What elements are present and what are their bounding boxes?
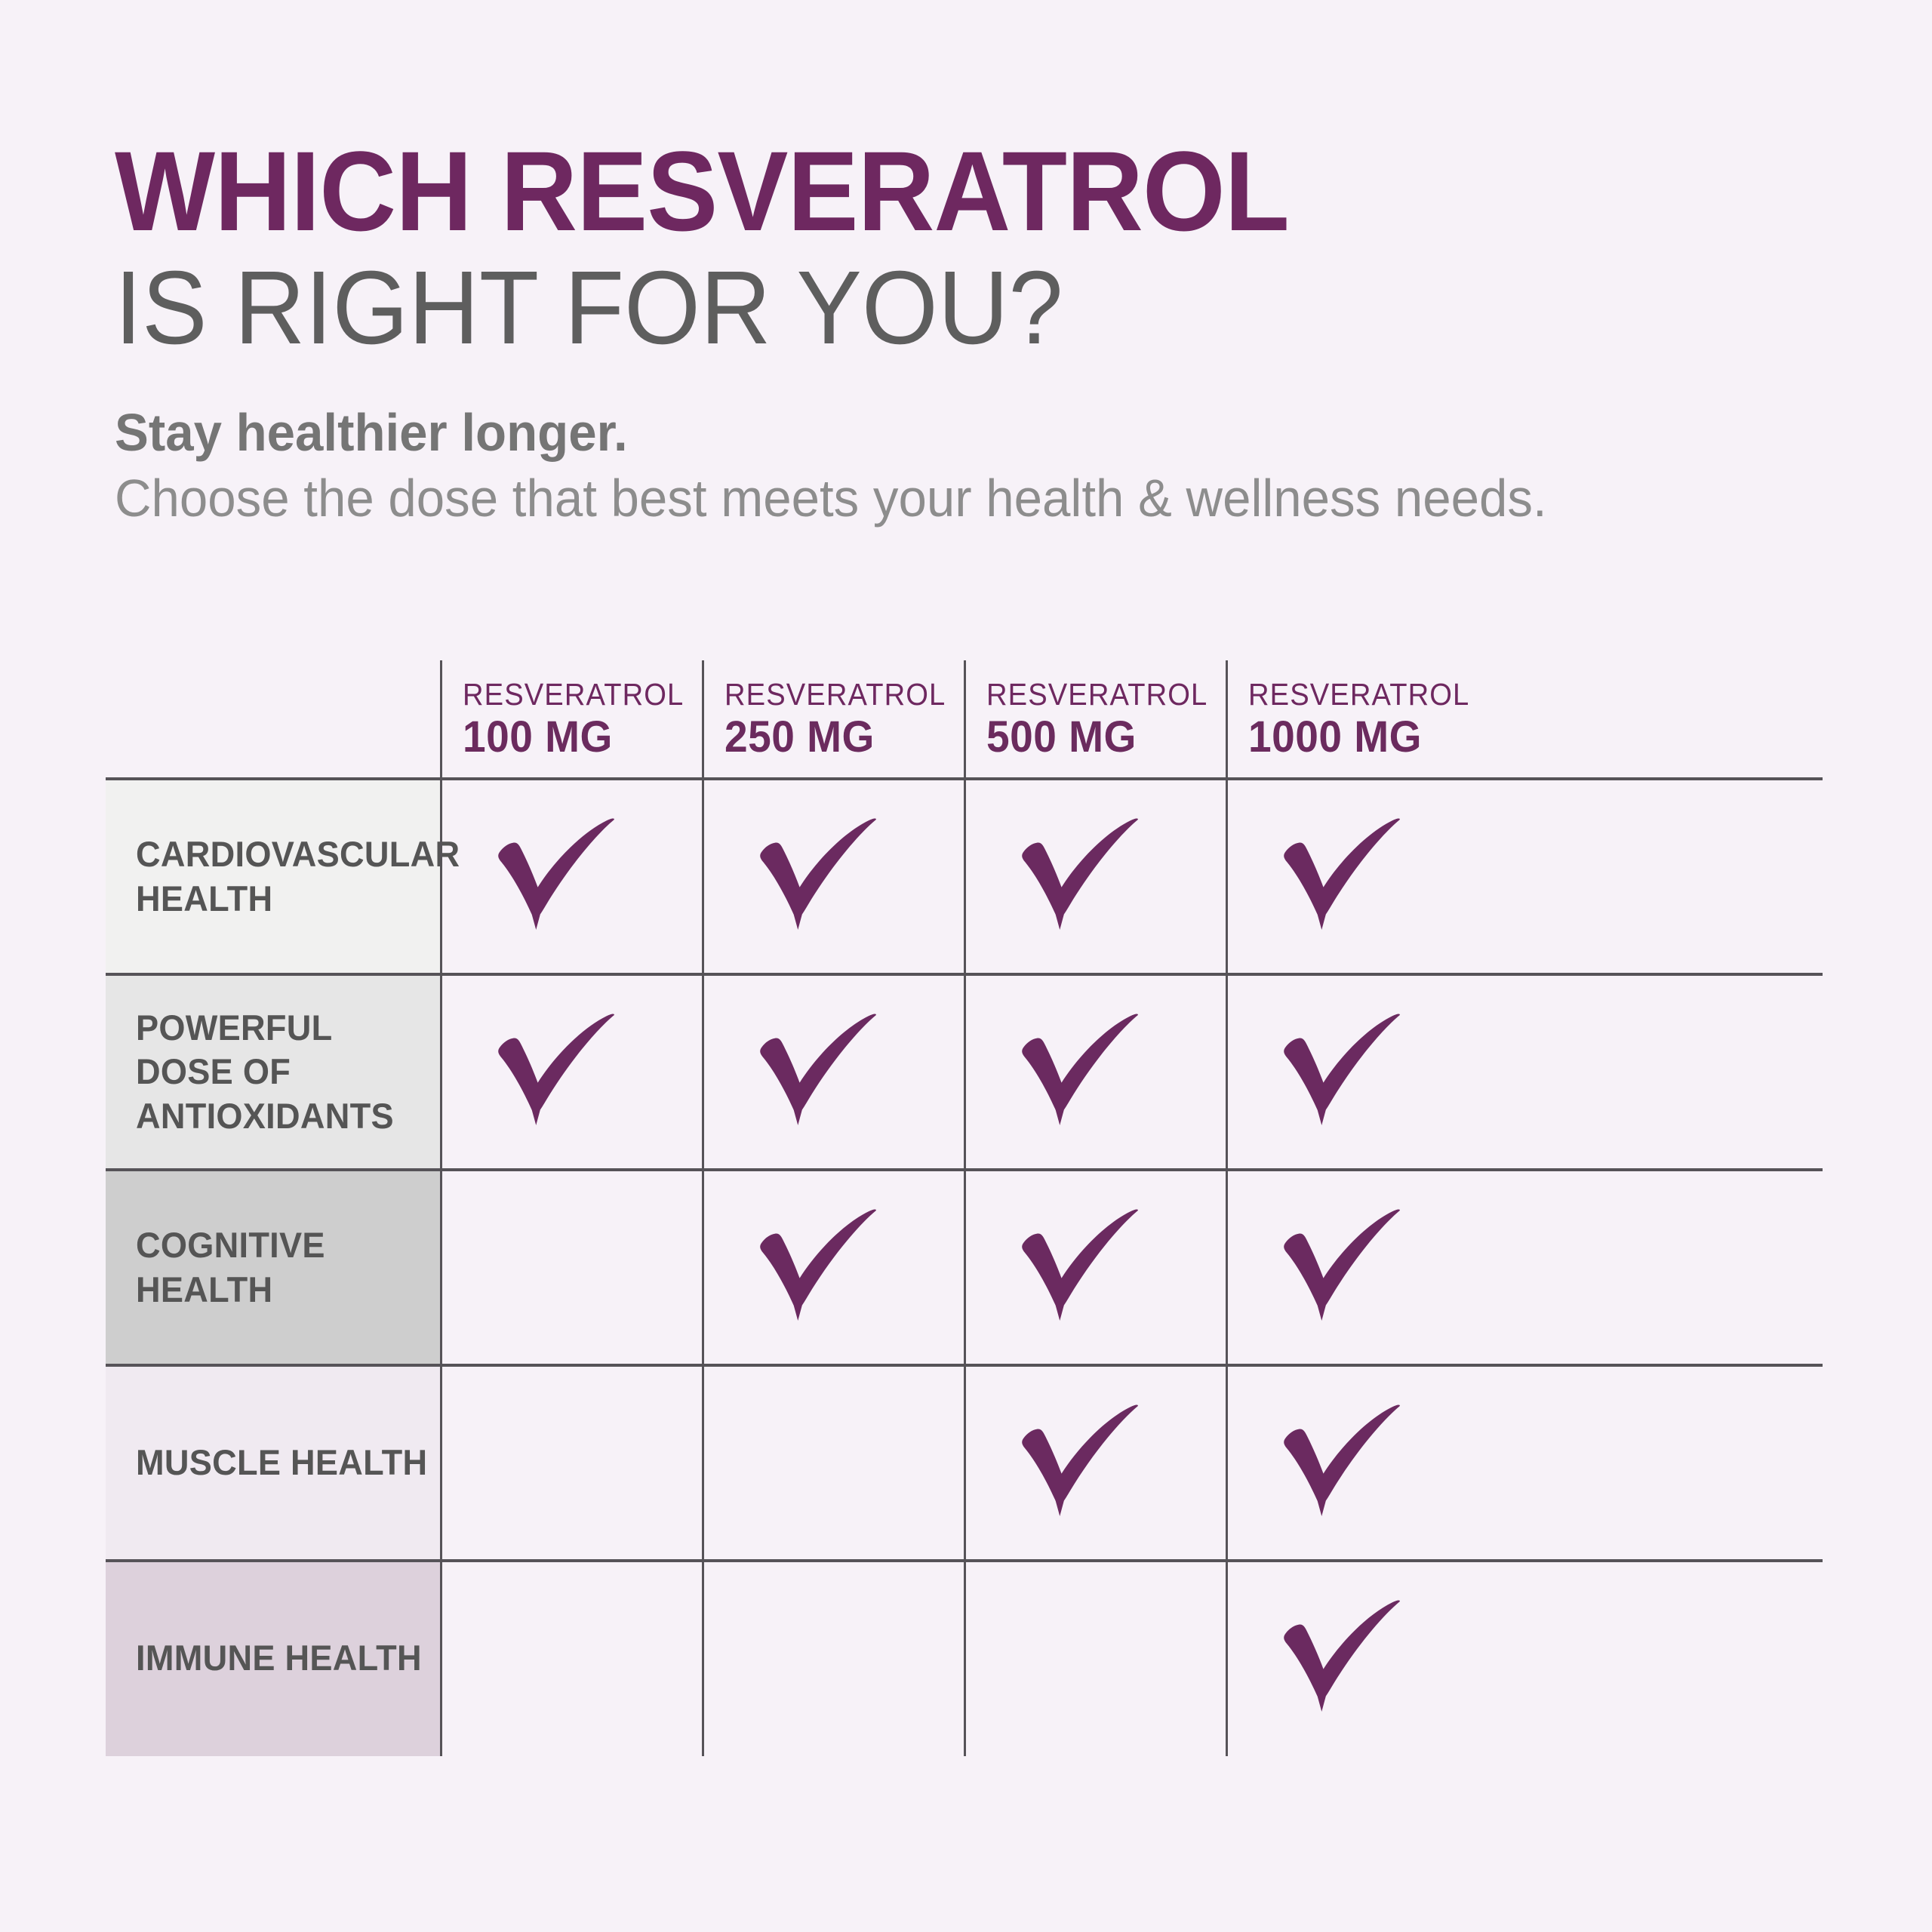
checkmark-icon — [493, 818, 621, 931]
checkmark-icon — [755, 818, 883, 931]
row-label-text: MUSCLE HEALTH — [136, 1441, 427, 1484]
checkmark-icon — [1278, 1600, 1407, 1713]
infographic-page: WHICH RESVERATROL IS RIGHT FOR YOU? Stay… — [0, 0, 1932, 1932]
header-block: WHICH RESVERATROL IS RIGHT FOR YOU? Stay… — [115, 134, 1843, 531]
column-header-brand: RESVERATROL — [986, 677, 1211, 712]
column-header-brand: RESVERATROL — [463, 677, 687, 712]
column-header-brand: RESVERATROL — [1248, 677, 1472, 712]
page-title-line-2: IS RIGHT FOR YOU? — [115, 248, 1740, 368]
comparison-table: RESVERATROL100 MGRESVERATROL250 MGRESVER… — [106, 660, 1823, 1755]
checkmark-icon — [1278, 1404, 1407, 1518]
checkmark-icon — [1017, 1014, 1145, 1127]
column-header-2: RESVERATROL250 MG — [703, 660, 965, 779]
checkmark-icon — [755, 1209, 883, 1322]
row-label-cell: POWERFUL DOSE OF ANTIOXIDANTS — [106, 974, 441, 1170]
checkmark-icon — [1017, 1209, 1145, 1322]
column-header-dose: 100 MG — [463, 713, 691, 762]
subtitle-secondary: Choose the dose that best meets your hea… — [115, 466, 1774, 531]
row-label-cell: IMMUNE HEALTH — [106, 1561, 441, 1756]
checkmark-icon — [1017, 818, 1145, 931]
checkmark-icon — [1017, 1404, 1145, 1518]
page-title-line-1: WHICH RESVERATROL — [115, 134, 1740, 248]
checkmark-icon — [1278, 1014, 1407, 1127]
column-header-dose: 1000 MG — [1248, 713, 1477, 762]
column-header-4: RESVERATROL1000 MG — [1227, 660, 1489, 779]
row-label-cell: CARDIOVASCULAR HEALTH — [106, 779, 441, 974]
row-label-text: IMMUNE HEALTH — [136, 1636, 422, 1680]
checkmark-icon — [493, 1014, 621, 1127]
column-header-brand: RESVERATROL — [724, 677, 949, 712]
row-label-cell: COGNITIVE HEALTH — [106, 1170, 441, 1365]
checkmark-icon — [1278, 818, 1407, 931]
grid-line-vertical — [440, 660, 442, 1756]
grid-line-vertical — [964, 660, 966, 1756]
checkmark-icon — [1278, 1209, 1407, 1322]
grid-line-vertical — [702, 660, 704, 1756]
row-label-text: COGNITIVE HEALTH — [136, 1223, 429, 1312]
grid-line-vertical — [1226, 660, 1228, 1756]
column-header-dose: 250 MG — [724, 713, 953, 762]
column-header-dose: 500 MG — [986, 713, 1215, 762]
subtitle-primary: Stay healthier longer. — [115, 400, 1774, 466]
row-label-text: POWERFUL DOSE OF ANTIOXIDANTS — [136, 1006, 429, 1138]
checkmark-icon — [755, 1014, 883, 1127]
column-header-1: RESVERATROL100 MG — [441, 660, 703, 779]
row-label-text: CARDIOVASCULAR HEALTH — [136, 832, 460, 921]
row-label-cell: MUSCLE HEALTH — [106, 1365, 441, 1561]
column-header-3: RESVERATROL500 MG — [965, 660, 1227, 779]
